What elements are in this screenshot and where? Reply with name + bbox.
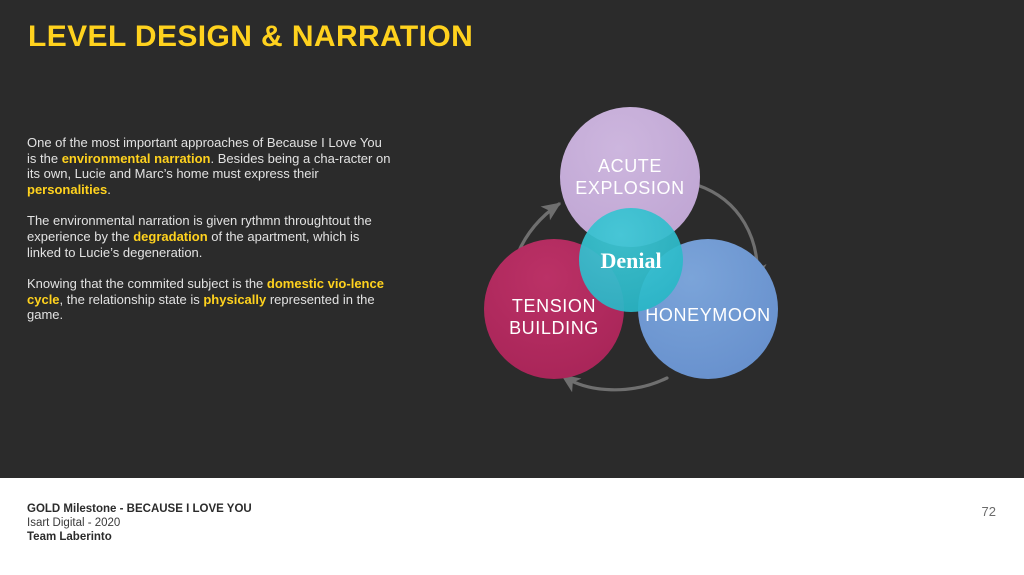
text-run: , the relationship state is <box>60 292 204 307</box>
lobe-acute-explosion-label-line2: EXPLOSION <box>575 178 684 198</box>
lobe-tension-building-label-line2: BUILDING <box>509 318 599 338</box>
lobe-tension-building-label-line1: TENSION <box>512 296 596 316</box>
paragraph-1: One of the most important approaches of … <box>27 135 392 197</box>
arrow-honeymoon-to-tension <box>563 376 667 390</box>
footer-team-name: Team Laberinto <box>27 530 252 544</box>
highlighted-phrase: degradation <box>133 229 207 244</box>
footer-milestone-title: GOLD Milestone - BECAUSE I LOVE YOU <box>27 502 252 516</box>
highlighted-phrase: personalities <box>27 182 107 197</box>
highlighted-phrase: physically <box>203 292 266 307</box>
slide-body: LEVEL DESIGN & NARRATION One of the most… <box>0 0 1024 478</box>
page-title: LEVEL DESIGN & NARRATION <box>28 20 473 54</box>
page-number: 72 <box>982 504 996 519</box>
violence-cycle-diagram: ACUTE EXPLOSION HONEYMOON TENSION BUILDI… <box>455 90 815 410</box>
paragraph-2: The environmental narration is given ryt… <box>27 213 392 260</box>
lobe-acute-explosion-label-line1: ACUTE <box>598 156 662 176</box>
center-denial[interactable]: Denial <box>579 208 683 312</box>
body-text-column: One of the most important approaches of … <box>27 135 392 323</box>
slide-footer: GOLD Milestone - BECAUSE I LOVE YOU Isar… <box>0 478 1024 575</box>
center-denial-label: Denial <box>600 248 661 273</box>
text-run: . <box>107 182 111 197</box>
text-run: Knowing that the commited subject is the <box>27 276 267 291</box>
lobe-honeymoon-label-line1: HONEYMOON <box>645 305 770 325</box>
paragraph-3: Knowing that the commited subject is the… <box>27 276 392 323</box>
highlighted-phrase: environmental narration <box>62 151 211 166</box>
footer-credits: GOLD Milestone - BECAUSE I LOVE YOU Isar… <box>27 502 252 544</box>
footer-school-year: Isart Digital - 2020 <box>27 516 252 530</box>
